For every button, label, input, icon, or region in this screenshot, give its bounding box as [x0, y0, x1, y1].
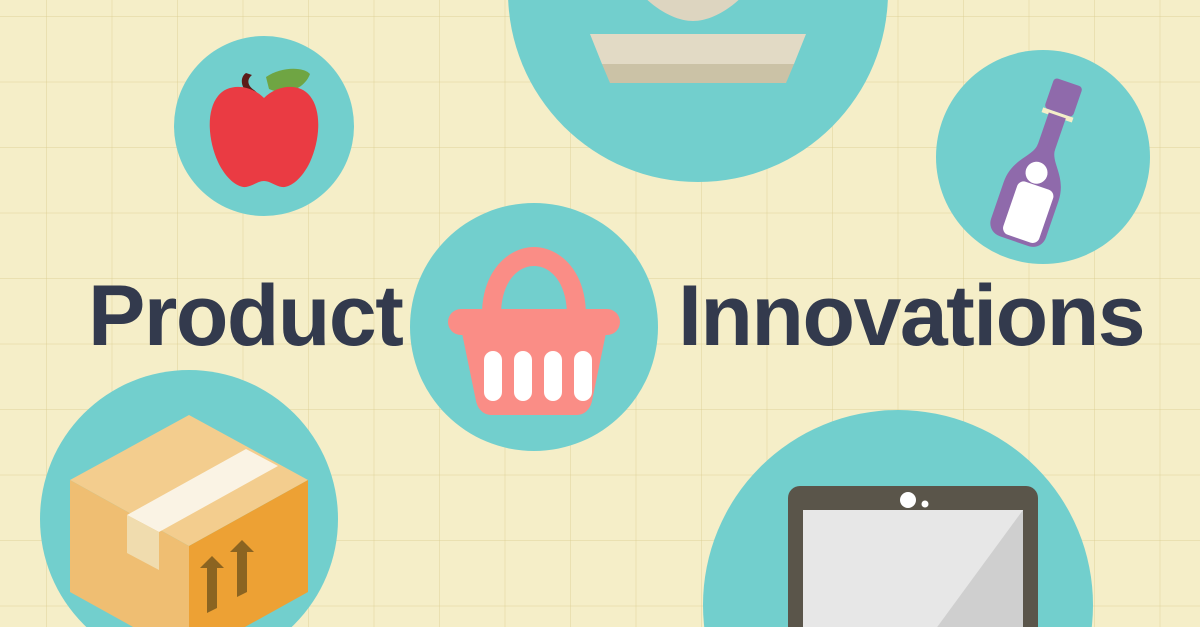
wine-bottle-icon: [936, 50, 1150, 264]
basket-handle-icon: [482, 247, 586, 315]
basket-slot: [484, 351, 502, 401]
package-box-icon: [40, 370, 338, 627]
basket-rim-icon: [448, 309, 620, 335]
basket-slot: [514, 351, 532, 401]
tablet-sensor-icon: [922, 501, 929, 508]
apple-body-icon: [210, 87, 319, 187]
banner-canvas: Product Innovations: [0, 0, 1200, 627]
shopping-basket-badge: [410, 203, 658, 451]
coffee-cup-icon: [508, 0, 888, 182]
headline-word-product: Product: [88, 273, 402, 359]
headline-word-innovations: Innovations: [678, 273, 1144, 359]
coffee-cup-badge: [508, 0, 888, 182]
tablet-device-icon: [703, 410, 1093, 627]
wine-bottle-badge: [936, 50, 1150, 264]
tablet-camera-icon: [900, 492, 916, 508]
apple-icon: [174, 36, 354, 216]
basket-slot: [544, 351, 562, 401]
shopping-basket-icon: [410, 203, 658, 451]
basket-slot: [574, 351, 592, 401]
package-box-badge: [40, 370, 338, 627]
tablet-badge: [703, 410, 1093, 627]
apple-badge: [174, 36, 354, 216]
